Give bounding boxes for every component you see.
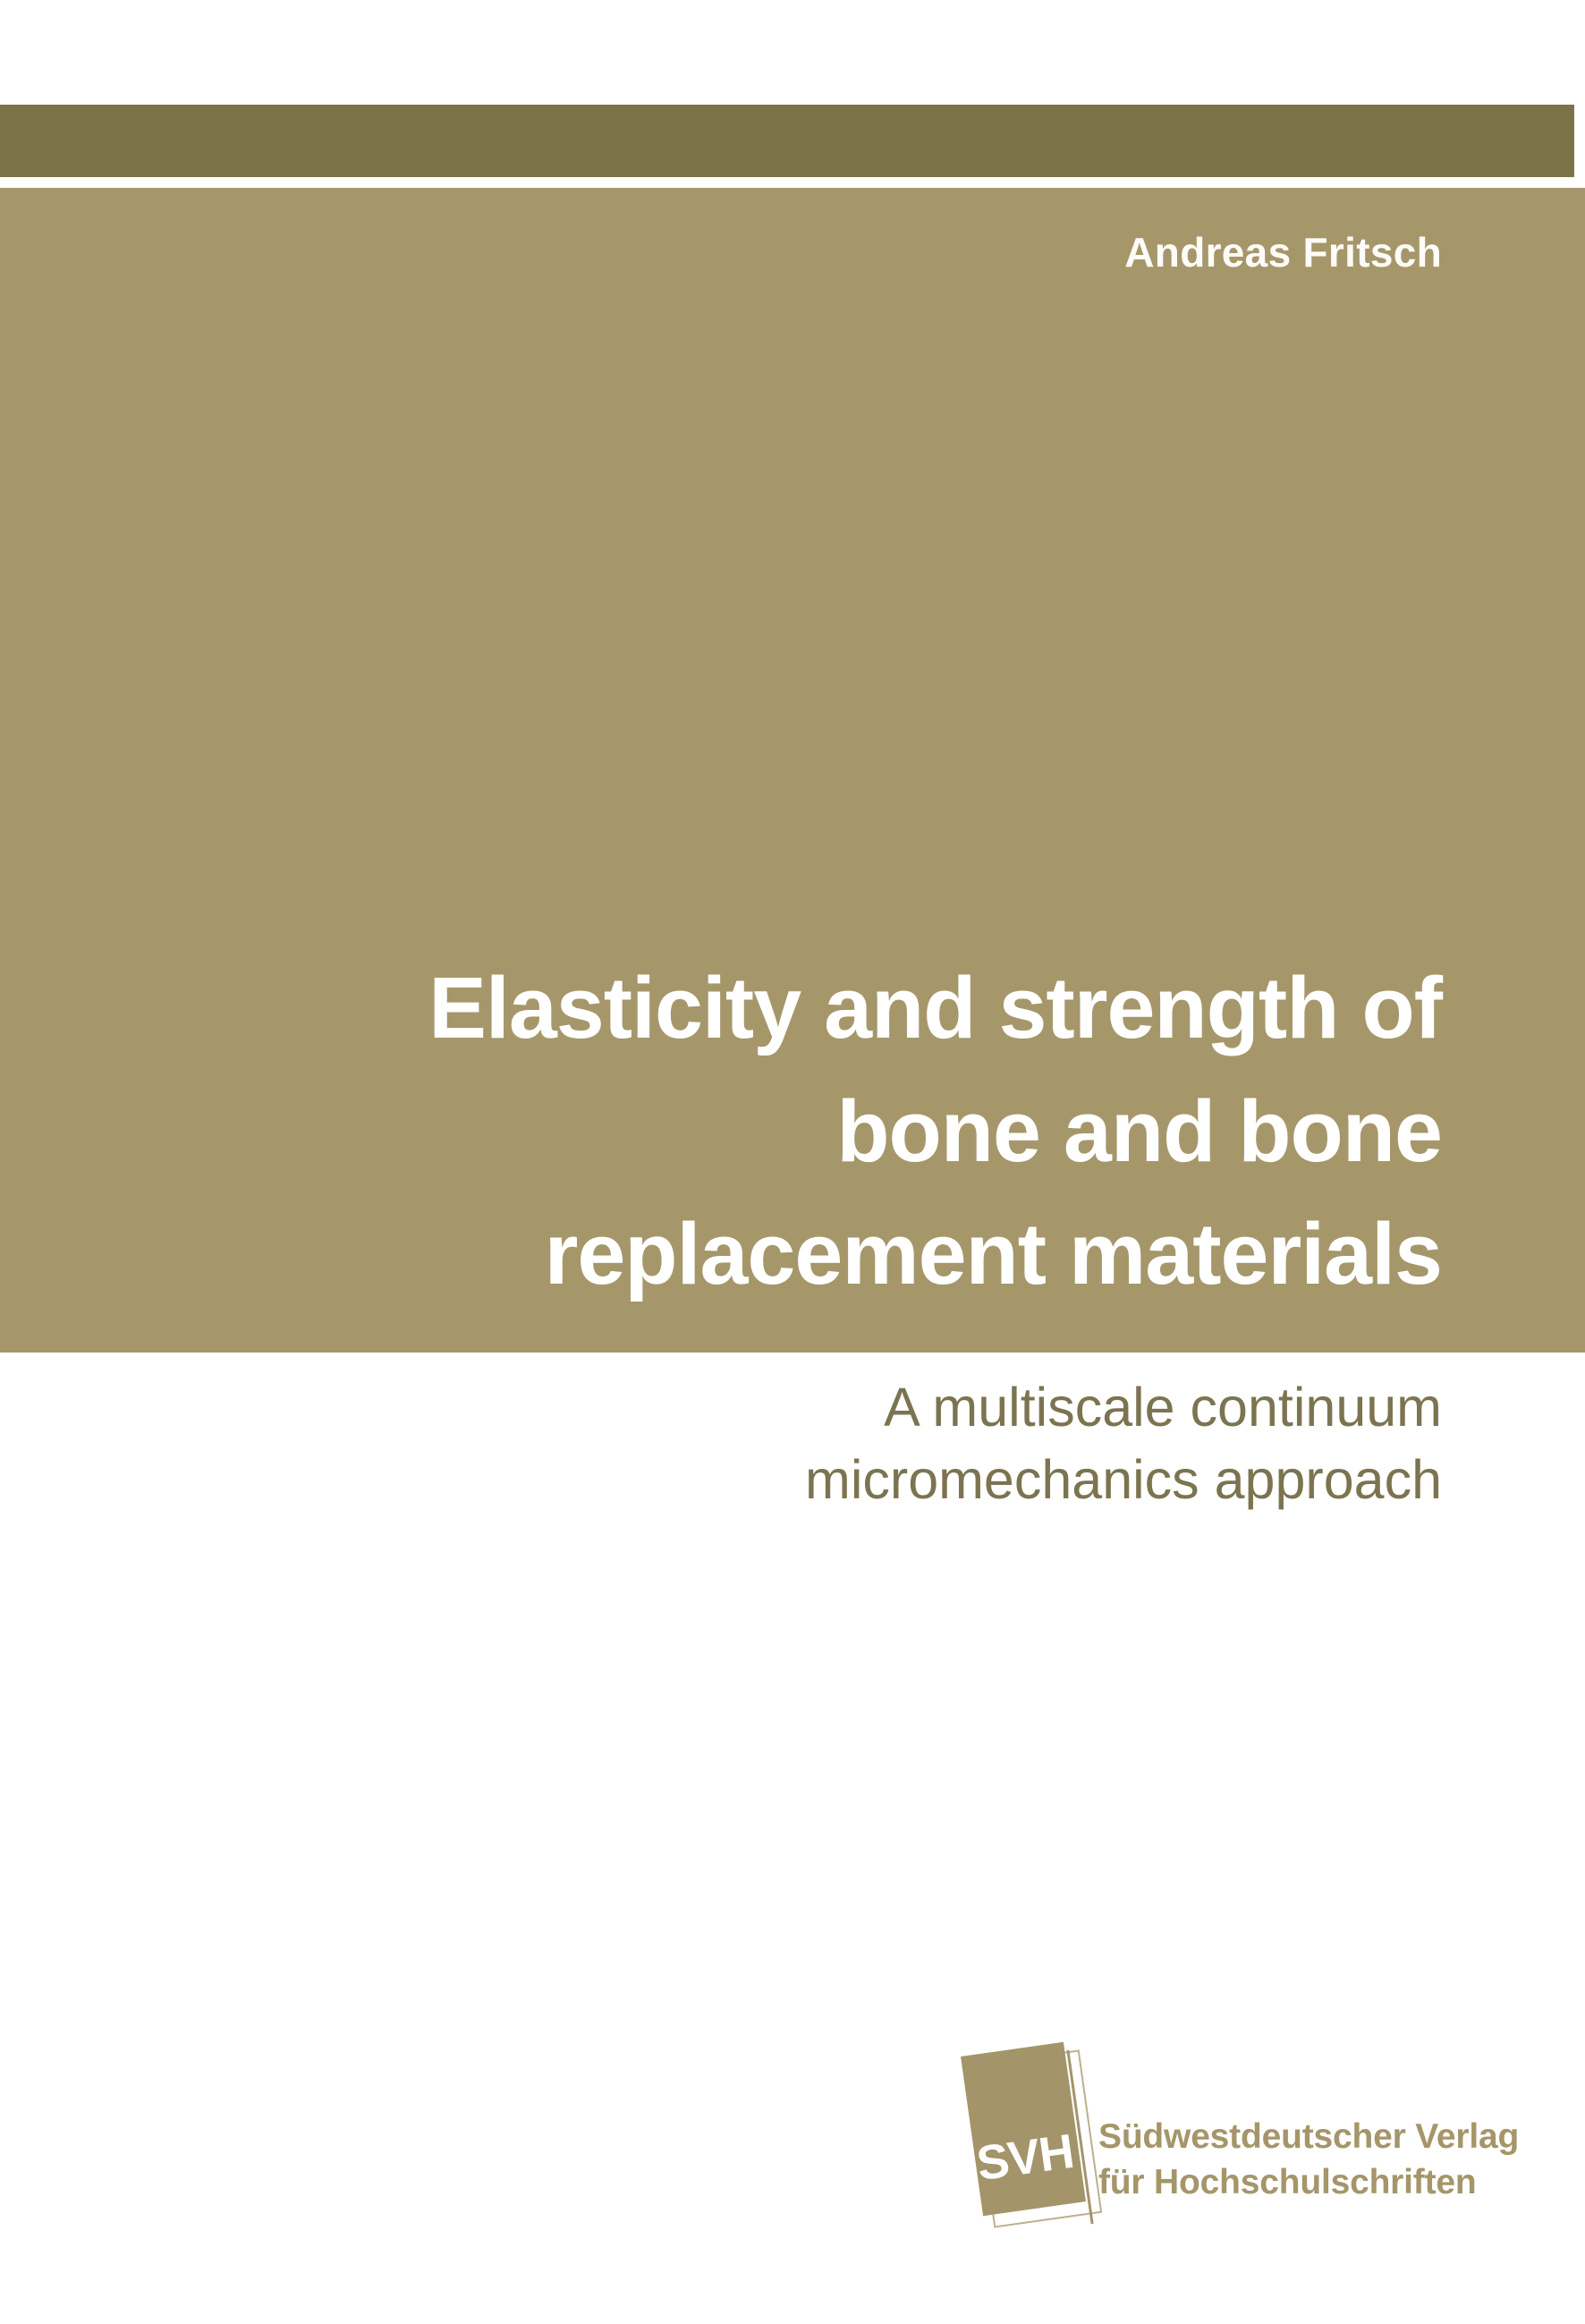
top-accent-band bbox=[0, 105, 1574, 177]
subtitle-line-2: micromechanics approach bbox=[161, 1444, 1442, 1516]
title-line-1: Elasticity and strength of bbox=[161, 946, 1442, 1070]
subtitle-line-1: A multiscale continuum bbox=[161, 1371, 1442, 1444]
publisher-name-line-2: für Hochschulschriften bbox=[1098, 2159, 1474, 2205]
author-name: Andreas Fritsch bbox=[0, 228, 1442, 277]
book-subtitle: A multiscale continuum micromechanics ap… bbox=[161, 1371, 1442, 1516]
publisher-name: Südwestdeutscher Verlag für Hochschulsch… bbox=[1098, 2114, 1474, 2206]
svh-book-icon: SVH bbox=[966, 2044, 1118, 2236]
title-line-2: bone and bone bbox=[161, 1070, 1442, 1193]
publisher-logo: SVH Südwestdeutscher Verlag für Hochschu… bbox=[966, 2044, 1503, 2268]
publisher-name-line-1: Südwestdeutscher Verlag bbox=[1098, 2114, 1474, 2159]
title-line-3: replacement materials bbox=[161, 1192, 1442, 1316]
book-title: Elasticity and strength of bone and bone… bbox=[161, 946, 1442, 1316]
